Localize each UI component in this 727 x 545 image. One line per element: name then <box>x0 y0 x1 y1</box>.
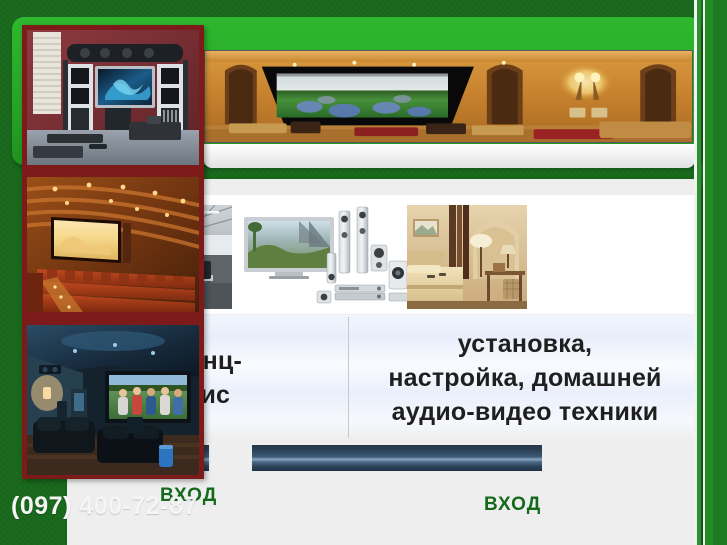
page-root: ренц- вис установка, настройка, домашней… <box>0 0 727 545</box>
sidebar-item-cinema-hall[interactable] <box>27 177 199 312</box>
sidebar-photo-stack <box>22 25 204 479</box>
contact-phone: (097) 400-72-87 <box>11 492 198 521</box>
hotel-bedroom-photo <box>407 205 527 309</box>
sidebar-item-living-room-tv[interactable] <box>27 30 199 165</box>
tv-and-speakers-photo <box>239 205 424 309</box>
banner-shelf <box>204 144 695 168</box>
nav-bar-right[interactable] <box>252 445 542 471</box>
enter-button-right[interactable]: ВХОД <box>484 494 541 516</box>
service-right-text: установка, настройка, домашней аудио-вид… <box>388 327 661 429</box>
sidebar-item-home-theatre-lounge[interactable] <box>27 325 199 475</box>
service-right-column: установка, настройка, домашней аудио-вид… <box>349 315 701 440</box>
banner-home-theatre-image <box>204 50 693 143</box>
